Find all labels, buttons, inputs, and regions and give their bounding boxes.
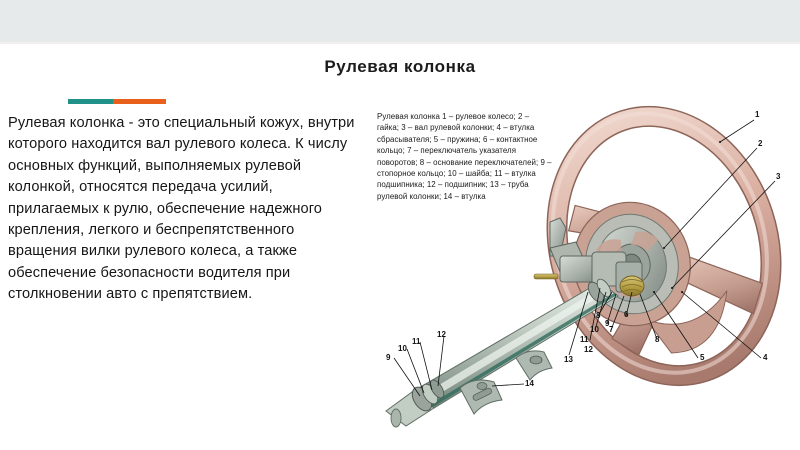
callout-10-hub: 10: [590, 326, 599, 334]
top-decoration-band: [0, 0, 800, 42]
callout-9-hub: 9: [605, 320, 609, 328]
callout-7: 7: [609, 326, 613, 334]
callout-11-hub: 11: [580, 336, 588, 344]
page-title: Рулевая колонка: [0, 57, 800, 77]
steering-column-illustration: [364, 96, 800, 436]
callout-8-hub: 8: [596, 312, 600, 320]
callout-13: 13: [564, 356, 573, 364]
callout-10: 10: [398, 345, 407, 353]
callout-4: 4: [763, 354, 767, 362]
accent-segment-teal: [68, 99, 113, 104]
callout-14: 14: [525, 380, 534, 388]
accent-segment-orange: [113, 99, 166, 104]
callout-6: 6: [624, 311, 628, 319]
body-paragraph: Рулевая колонка - это специальный кожух,…: [8, 113, 356, 306]
callout-1: 1: [755, 111, 759, 119]
callout-9: 9: [386, 354, 390, 362]
callout-8: 8: [655, 336, 659, 344]
callout-5: 5: [700, 354, 704, 362]
top-band-edge: [0, 42, 800, 44]
callout-3: 3: [776, 173, 780, 181]
callout-12-hub: 12: [584, 346, 593, 354]
accent-divider: [68, 99, 166, 104]
callout-2: 2: [758, 140, 762, 148]
callout-12: 12: [437, 331, 446, 339]
callout-11: 11: [412, 338, 420, 346]
figure-panel: Рулевая колонка 1 – рулевое колесо; 2 – …: [364, 96, 800, 436]
slide-canvas: Рулевая колонка Рулевая колонка - это сп…: [0, 0, 800, 450]
